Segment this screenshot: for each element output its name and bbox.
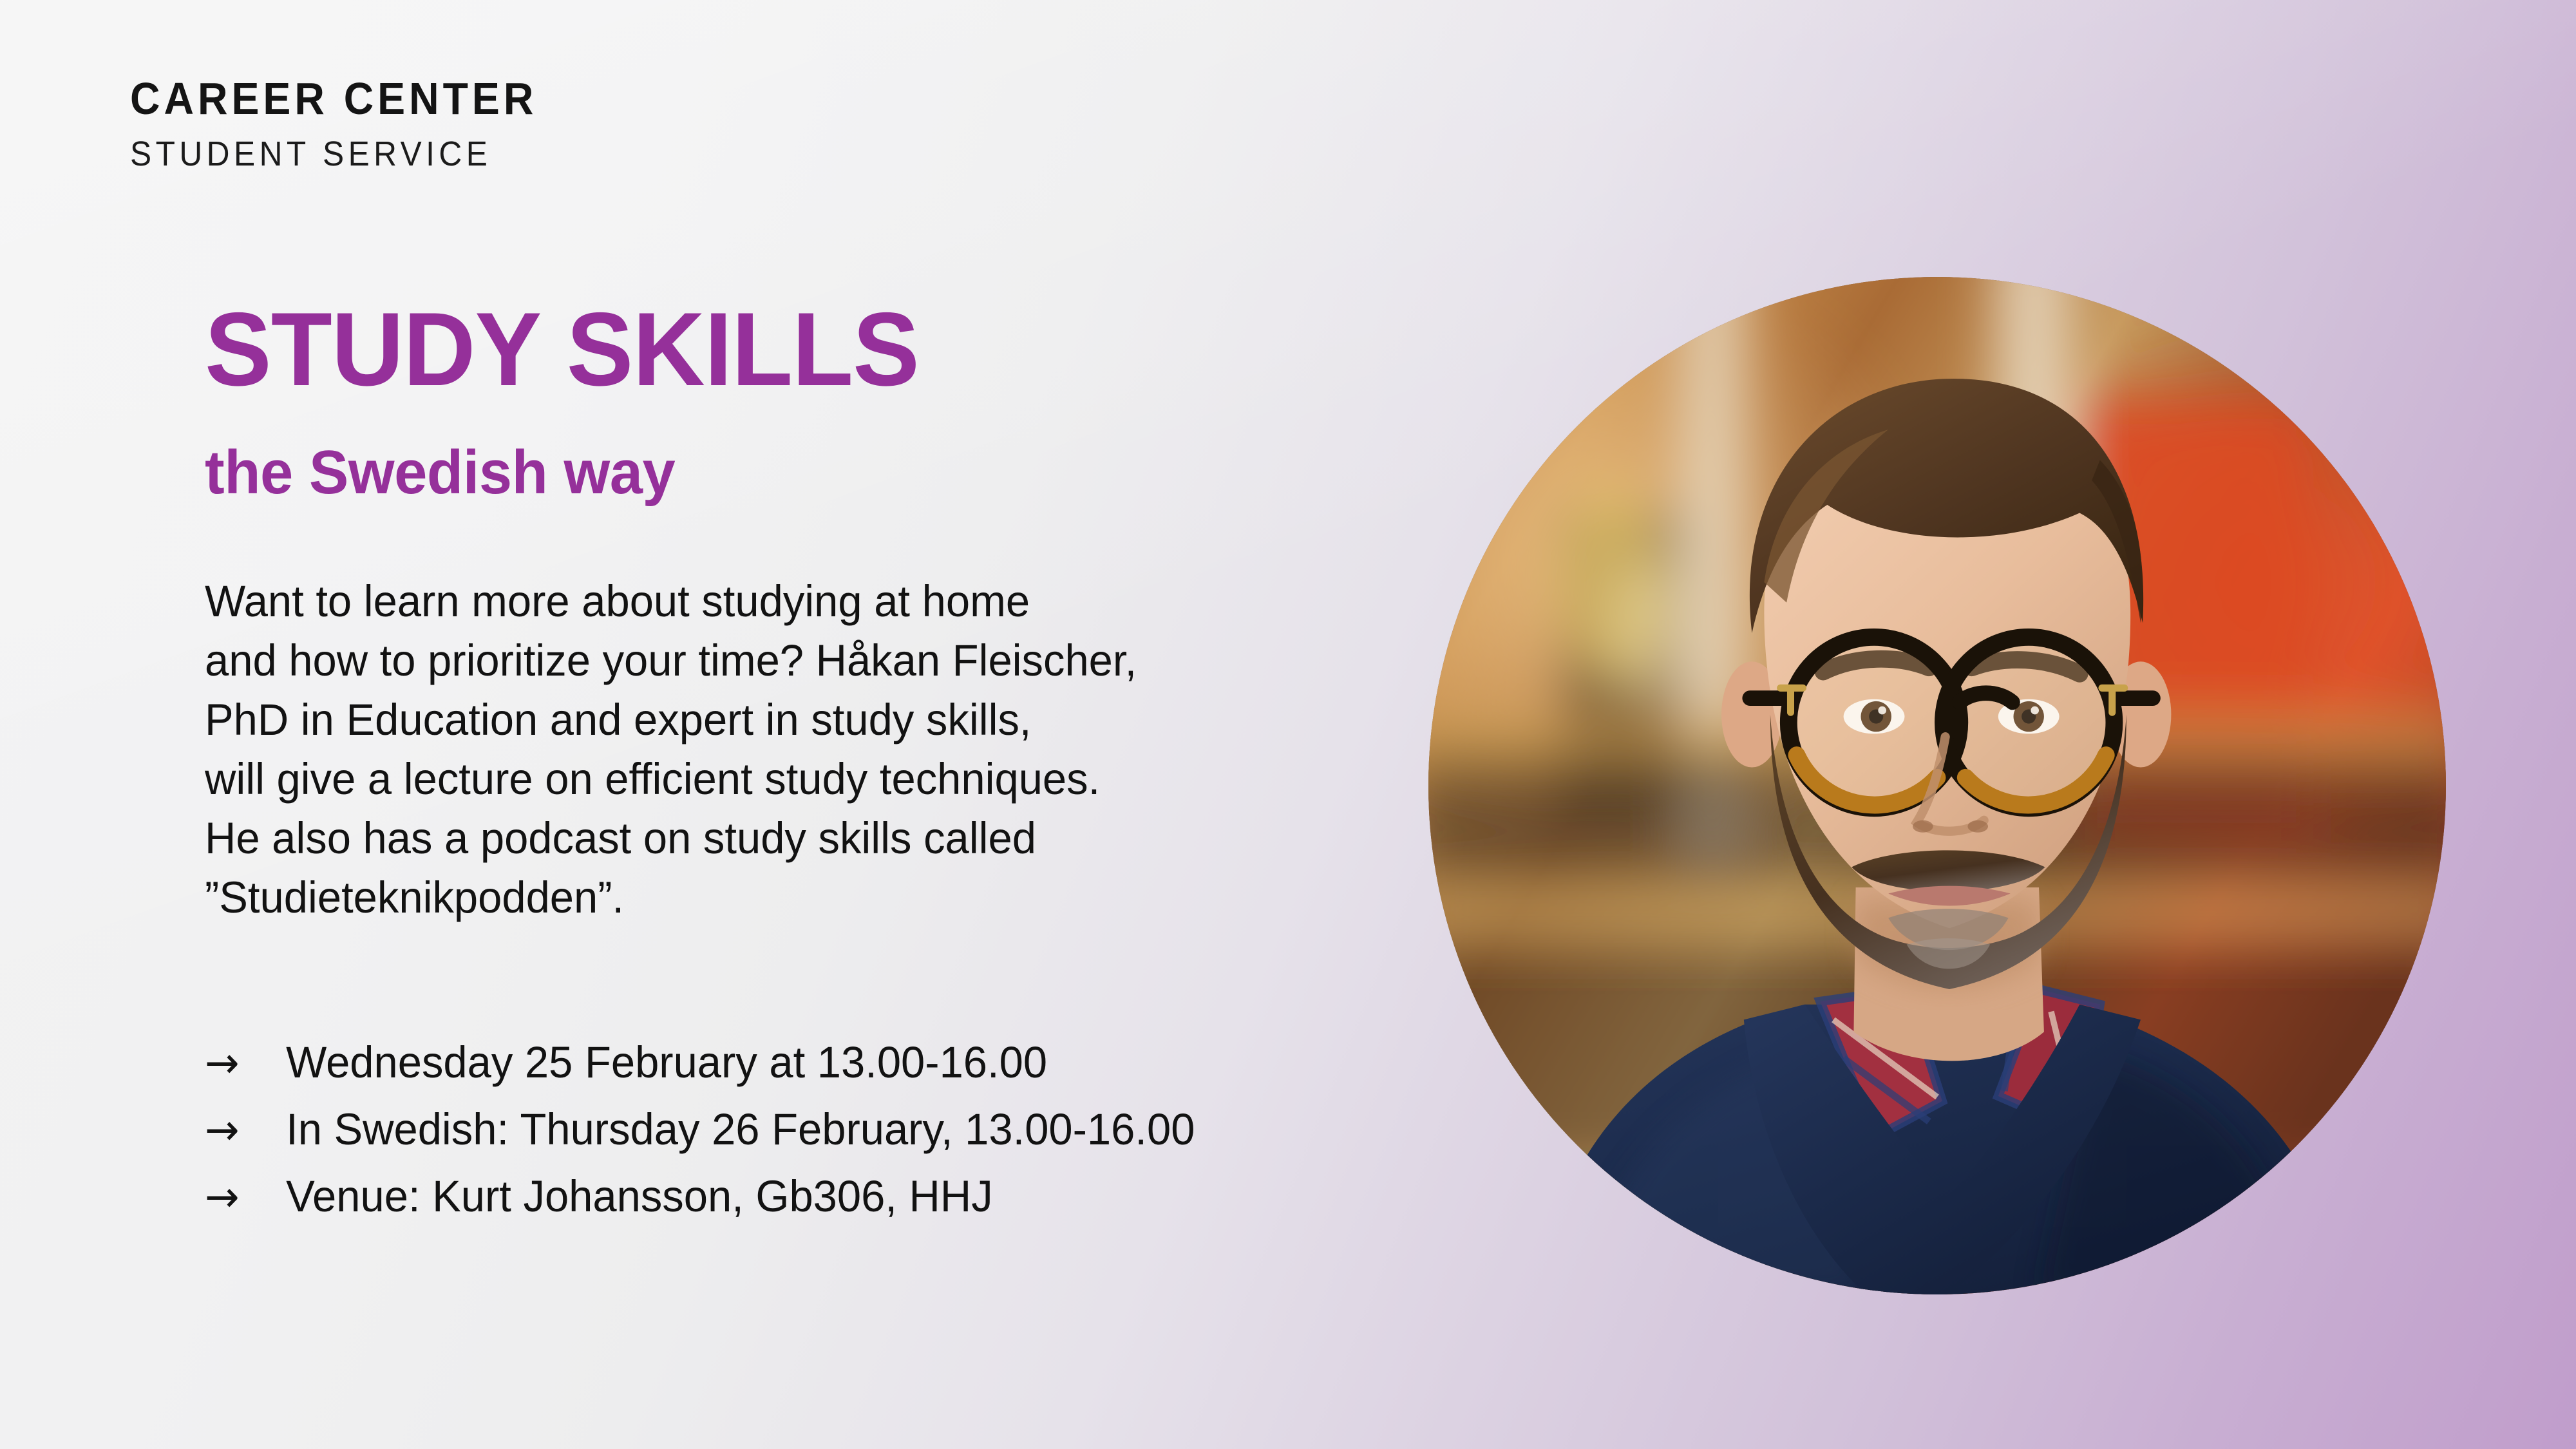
body-line: He also has a podcast on study skills ca…	[205, 809, 1454, 868]
brand-logo: CAREER CENTER STUDENT SERVICE	[130, 76, 903, 171]
brand-logo-secondary: STUDENT SERVICE	[130, 137, 841, 171]
body-line: ”Studieteknikpodden”.	[205, 868, 1454, 927]
poster-canvas: CAREER CENTER STUDENT SERVICE STUDY SKIL…	[0, 0, 2576, 1449]
brand-logo-primary: CAREER CENTER	[130, 76, 841, 121]
speaker-portrait	[1428, 277, 2446, 1294]
event-details-list: → Wednesday 25 February at 13.00-16.00 →…	[205, 1029, 1579, 1230]
page-subtitle: the Swedish way	[205, 442, 1379, 504]
body-line: and how to prioritize your time? Håkan F…	[205, 631, 1454, 690]
list-item: → Wednesday 25 February at 13.00-16.00	[205, 1029, 1579, 1096]
list-item-label: Wednesday 25 February at 13.00-16.00	[286, 1029, 1047, 1095]
body-line: Want to learn more about studying at hom…	[205, 572, 1454, 631]
list-item-label: Venue: Kurt Johansson, Gb306, HHJ	[286, 1163, 993, 1229]
arrow-right-icon: →	[205, 1030, 286, 1096]
page-title: STUDY SKILLS	[205, 298, 1379, 402]
arrow-right-icon: →	[205, 1097, 286, 1163]
portrait-illustration	[1428, 277, 2446, 1294]
arrow-right-icon: →	[205, 1164, 286, 1230]
body-line: PhD in Education and expert in study ski…	[205, 690, 1454, 750]
body-paragraph: Want to learn more about studying at hom…	[205, 572, 1454, 927]
headline-block: STUDY SKILLS the Swedish way	[205, 298, 1428, 504]
body-line: will give a lecture on efficient study t…	[205, 750, 1454, 809]
list-item: → Venue: Kurt Johansson, Gb306, HHJ	[205, 1163, 1579, 1230]
list-item: → In Swedish: Thursday 26 February, 13.0…	[205, 1096, 1579, 1163]
list-item-label: In Swedish: Thursday 26 February, 13.00-…	[286, 1096, 1195, 1162]
